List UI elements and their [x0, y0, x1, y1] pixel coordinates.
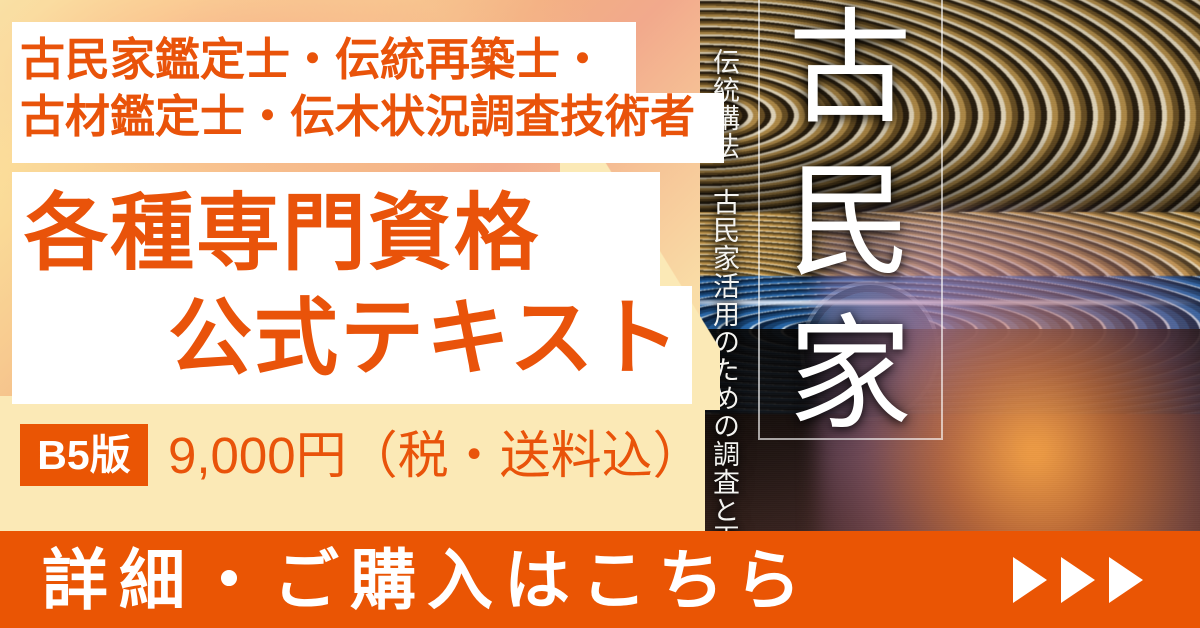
- cta-arrow-group: [1013, 557, 1143, 603]
- chevron-right-icon: [1013, 557, 1047, 603]
- header-qualifications-line1: 古民家鑑定士・伝統再築士・: [20, 37, 605, 82]
- cover-title-char-2: 民: [788, 161, 912, 285]
- cover-title-char-3: 家: [788, 314, 912, 438]
- chevron-right-icon: [1109, 557, 1143, 603]
- cover-title-char-1: 古: [788, 8, 912, 132]
- cta-bar[interactable]: 詳細・ご購入はこちら: [0, 531, 1200, 628]
- cta-label[interactable]: 詳細・ご購入はこちら: [42, 547, 812, 613]
- chevron-right-icon: [1061, 557, 1095, 603]
- main-title-line2: 公式テキスト: [168, 296, 681, 380]
- promotional-banner: 古 民 家 伝統構法 古民家活用のための調査と再生の 古民家鑑定士・伝統再築士・…: [0, 0, 1200, 628]
- format-badge-label: B5版: [37, 435, 130, 476]
- cover-title-vertical: 古 民 家: [770, 8, 930, 438]
- header-qualifications-line2: 古材鑑定士・伝木状況調査技術者: [20, 94, 695, 139]
- price-text: 9,000円（税・送料込）: [168, 430, 704, 481]
- format-badge: B5版: [20, 424, 148, 486]
- main-title-line1: 各種専門資格: [24, 191, 540, 275]
